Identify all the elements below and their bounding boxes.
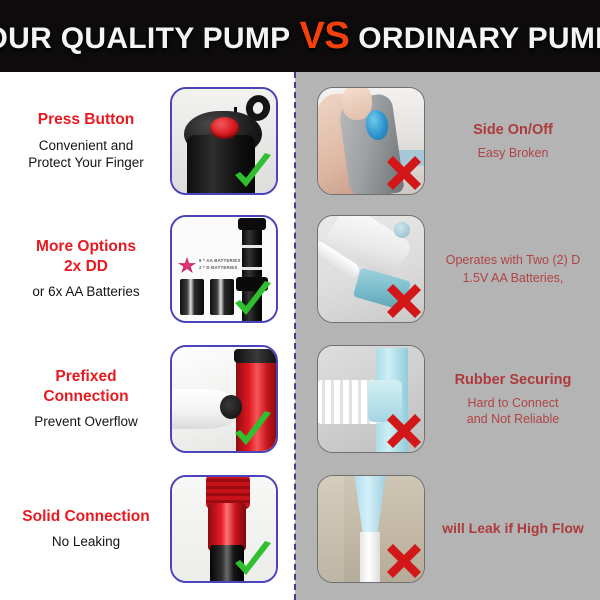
left-row-1-title: Press Button bbox=[38, 111, 134, 129]
right-row-2-photo bbox=[317, 215, 425, 323]
right-row-1-photo bbox=[317, 87, 425, 195]
green-check-icon bbox=[231, 411, 275, 451]
right-row-4: will Leak if High Flow bbox=[297, 475, 600, 583]
left-row-4-photo bbox=[170, 475, 278, 583]
tube-ring-shape-2 bbox=[242, 267, 262, 270]
right-row-1-line-1: Easy Broken bbox=[478, 146, 549, 162]
red-cross-icon bbox=[387, 156, 421, 190]
red-cross-icon bbox=[387, 544, 421, 578]
red-press-button-shape bbox=[210, 117, 239, 139]
right-row-4-photo bbox=[317, 475, 425, 583]
left-row-1-photo bbox=[170, 87, 278, 195]
pump-knob-shape bbox=[394, 222, 410, 238]
photo-caption-line-2: 2 * D BATTERIES bbox=[199, 265, 238, 270]
left-row-2-title-line-1: More Options bbox=[36, 238, 136, 256]
left-row-4: Solid Connection No Leaking bbox=[0, 475, 295, 583]
green-check-icon bbox=[231, 281, 275, 321]
right-row-3-title: Rubber Securing bbox=[455, 371, 572, 389]
comparison-poster: OUR QUALITY PUMP VS ORDINARY PUMP Press … bbox=[0, 0, 600, 600]
photo-highlight-shape bbox=[318, 476, 344, 583]
right-row-3-line-2: and Not Reliable bbox=[467, 412, 559, 428]
right-row-2-line-2: 1.5V AA Batteries, bbox=[463, 269, 564, 287]
left-row-1-text: Press Button Convenient and Protect Your… bbox=[6, 87, 166, 195]
tube-ring-shape-1 bbox=[242, 245, 262, 248]
photo-caption-line-1: 6 * AA BATTERIES bbox=[199, 258, 241, 263]
left-row-3-photo bbox=[170, 345, 278, 453]
battery-pack-shape-1 bbox=[180, 279, 204, 315]
left-row-3-text: Prefixed Connection Prevent Overflow bbox=[6, 345, 166, 453]
left-row-3: Prefixed Connection Prevent Overflow bbox=[0, 345, 295, 453]
pump-tube-cap-shape bbox=[238, 218, 266, 230]
red-pump-cap-shape bbox=[234, 349, 278, 363]
right-row-3-photo bbox=[317, 345, 425, 453]
left-row-1-line-2: Protect Your Finger bbox=[28, 155, 144, 171]
poster-header: OUR QUALITY PUMP VS ORDINARY PUMP bbox=[0, 0, 600, 72]
right-row-1-text: Side On/Off Easy Broken bbox=[427, 87, 599, 195]
right-row-1: Side On/Off Easy Broken bbox=[297, 87, 600, 195]
left-row-2-text: More Options 2x DD or 6x AA Batteries bbox=[6, 215, 166, 323]
left-row-4-line-1: No Leaking bbox=[52, 534, 120, 550]
right-row-3-text: Rubber Securing Hard to Connect and Not … bbox=[427, 345, 599, 453]
header-right-title: ORDINARY PUMP bbox=[358, 22, 600, 56]
green-check-icon bbox=[231, 153, 275, 193]
header-title-group: OUR QUALITY PUMP VS ORDINARY PUMP bbox=[0, 15, 600, 58]
left-row-2-photo: 6 * AA BATTERIES 2 * D BATTERIES bbox=[170, 215, 278, 323]
left-row-3-line-1: Prevent Overflow bbox=[34, 414, 138, 430]
left-row-4-text: Solid Connection No Leaking bbox=[6, 475, 166, 583]
left-row-3-title-line-2: Connection bbox=[43, 388, 128, 406]
header-left-title: OUR QUALITY PUMP bbox=[0, 22, 290, 56]
right-row-2-line-1: Operates with Two (2) D bbox=[446, 251, 581, 269]
blue-funnel-shape bbox=[348, 475, 392, 536]
white-pipe-shape bbox=[360, 532, 380, 583]
red-cross-icon bbox=[387, 414, 421, 448]
right-row-3: Rubber Securing Hard to Connect and Not … bbox=[297, 345, 600, 453]
right-row-2: Operates with Two (2) D 1.5V AA Batterie… bbox=[297, 215, 600, 323]
left-row-2-line-1: or 6x AA Batteries bbox=[32, 284, 139, 300]
right-row-4-text: will Leak if High Flow bbox=[427, 475, 599, 583]
left-row-2-title-line-2: 2x DD bbox=[64, 258, 108, 276]
right-row-4-title: will Leak if High Flow bbox=[442, 520, 584, 538]
left-row-4-title: Solid Connection bbox=[22, 508, 149, 526]
green-check-icon bbox=[231, 541, 275, 581]
right-row-2-text: Operates with Two (2) D 1.5V AA Batterie… bbox=[427, 215, 599, 323]
battery-brand-logo-icon bbox=[178, 257, 196, 273]
header-vs-label: VS bbox=[299, 15, 349, 58]
right-row-1-title: Side On/Off bbox=[473, 121, 553, 139]
right-row-3-line-1: Hard to Connect bbox=[467, 396, 558, 412]
red-cross-icon bbox=[387, 284, 421, 318]
left-row-3-title-line-1: Prefixed bbox=[55, 368, 116, 386]
left-row-2: More Options 2x DD or 6x AA Batteries 6 … bbox=[0, 215, 295, 323]
left-row-1-line-1: Convenient and bbox=[39, 138, 134, 154]
left-row-1: Press Button Convenient and Protect Your… bbox=[0, 87, 295, 195]
